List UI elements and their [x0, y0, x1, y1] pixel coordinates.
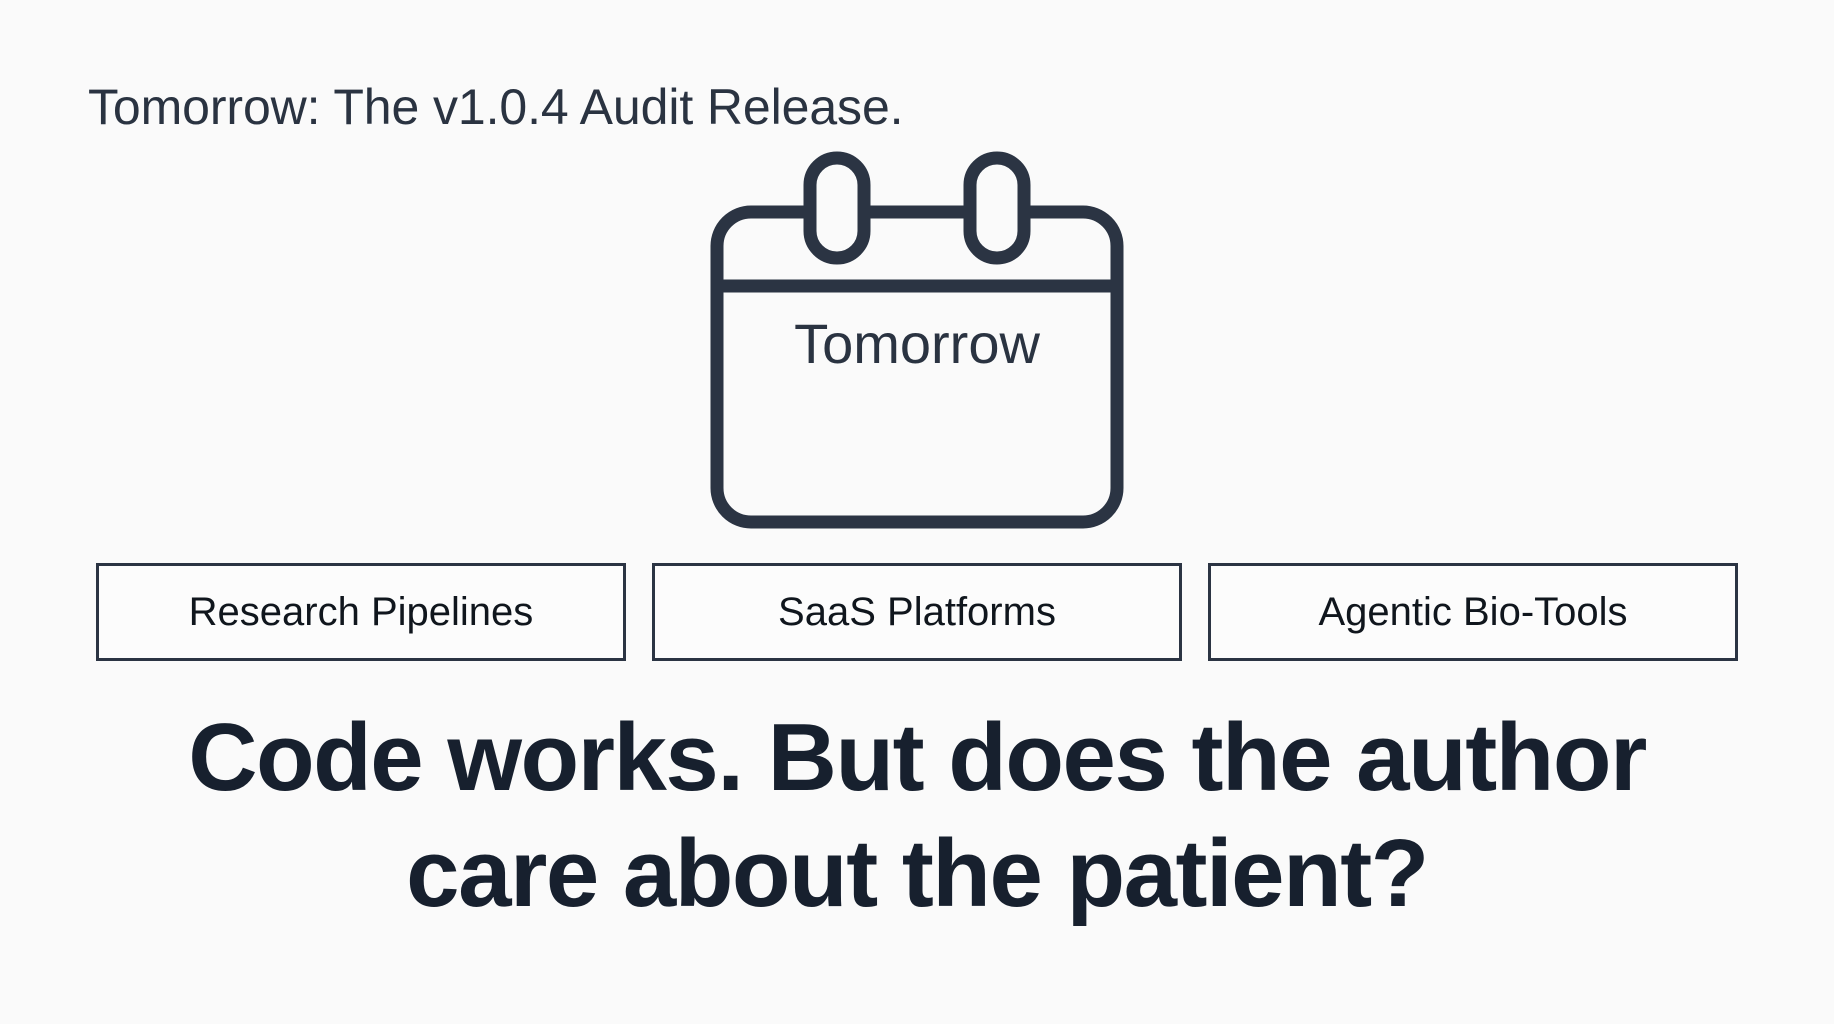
calendar-illustration: [0, 150, 1834, 540]
category-box-row: Research Pipelines SaaS Platforms Agenti…: [96, 563, 1738, 661]
slide-canvas: Tomorrow: The v1.0.4 Audit Release. Tomo…: [0, 0, 1834, 1024]
calendar-icon: [687, 150, 1147, 540]
category-box-label: SaaS Platforms: [778, 589, 1056, 635]
headline-line-2: care about the patient?: [90, 816, 1744, 932]
eyebrow-title: Tomorrow: The v1.0.4 Audit Release.: [88, 78, 903, 136]
category-box-saas-platforms[interactable]: SaaS Platforms: [652, 563, 1182, 661]
headline-line-1: Code works. But does the author: [90, 700, 1744, 816]
category-box-agentic-bio-tools[interactable]: Agentic Bio-Tools: [1208, 563, 1738, 661]
category-box-label: Research Pipelines: [189, 589, 534, 635]
category-box-label: Agentic Bio-Tools: [1318, 589, 1627, 635]
category-box-research-pipelines[interactable]: Research Pipelines: [96, 563, 626, 661]
headline: Code works. But does the author care abo…: [0, 700, 1834, 932]
